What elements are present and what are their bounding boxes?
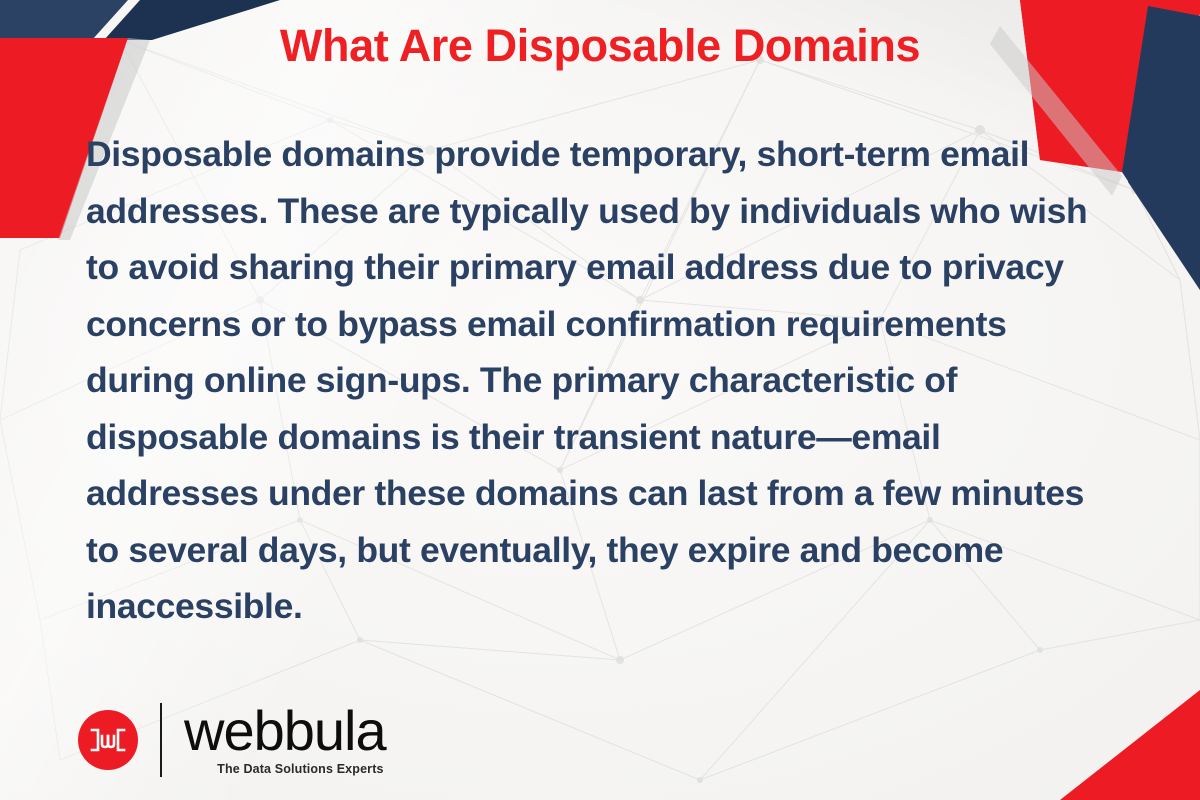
page-title: What Are Disposable Domains: [0, 20, 1200, 72]
logo-text-block: webbula The Data Solutions Experts: [184, 704, 386, 775]
slide-content: What Are Disposable Domains Disposable d…: [0, 0, 1200, 800]
slide-canvas: What Are Disposable Domains Disposable d…: [0, 0, 1200, 800]
bracket-w-icon: [88, 727, 128, 753]
webbula-logo: webbula The Data Solutions Experts: [78, 703, 386, 777]
webbula-logo-badge: [78, 710, 138, 770]
body-paragraph: Disposable domains provide temporary, sh…: [86, 126, 1101, 635]
logo-wordmark: webbula: [184, 704, 386, 757]
logo-divider: [160, 703, 162, 777]
logo-tagline: The Data Solutions Experts: [217, 762, 383, 776]
